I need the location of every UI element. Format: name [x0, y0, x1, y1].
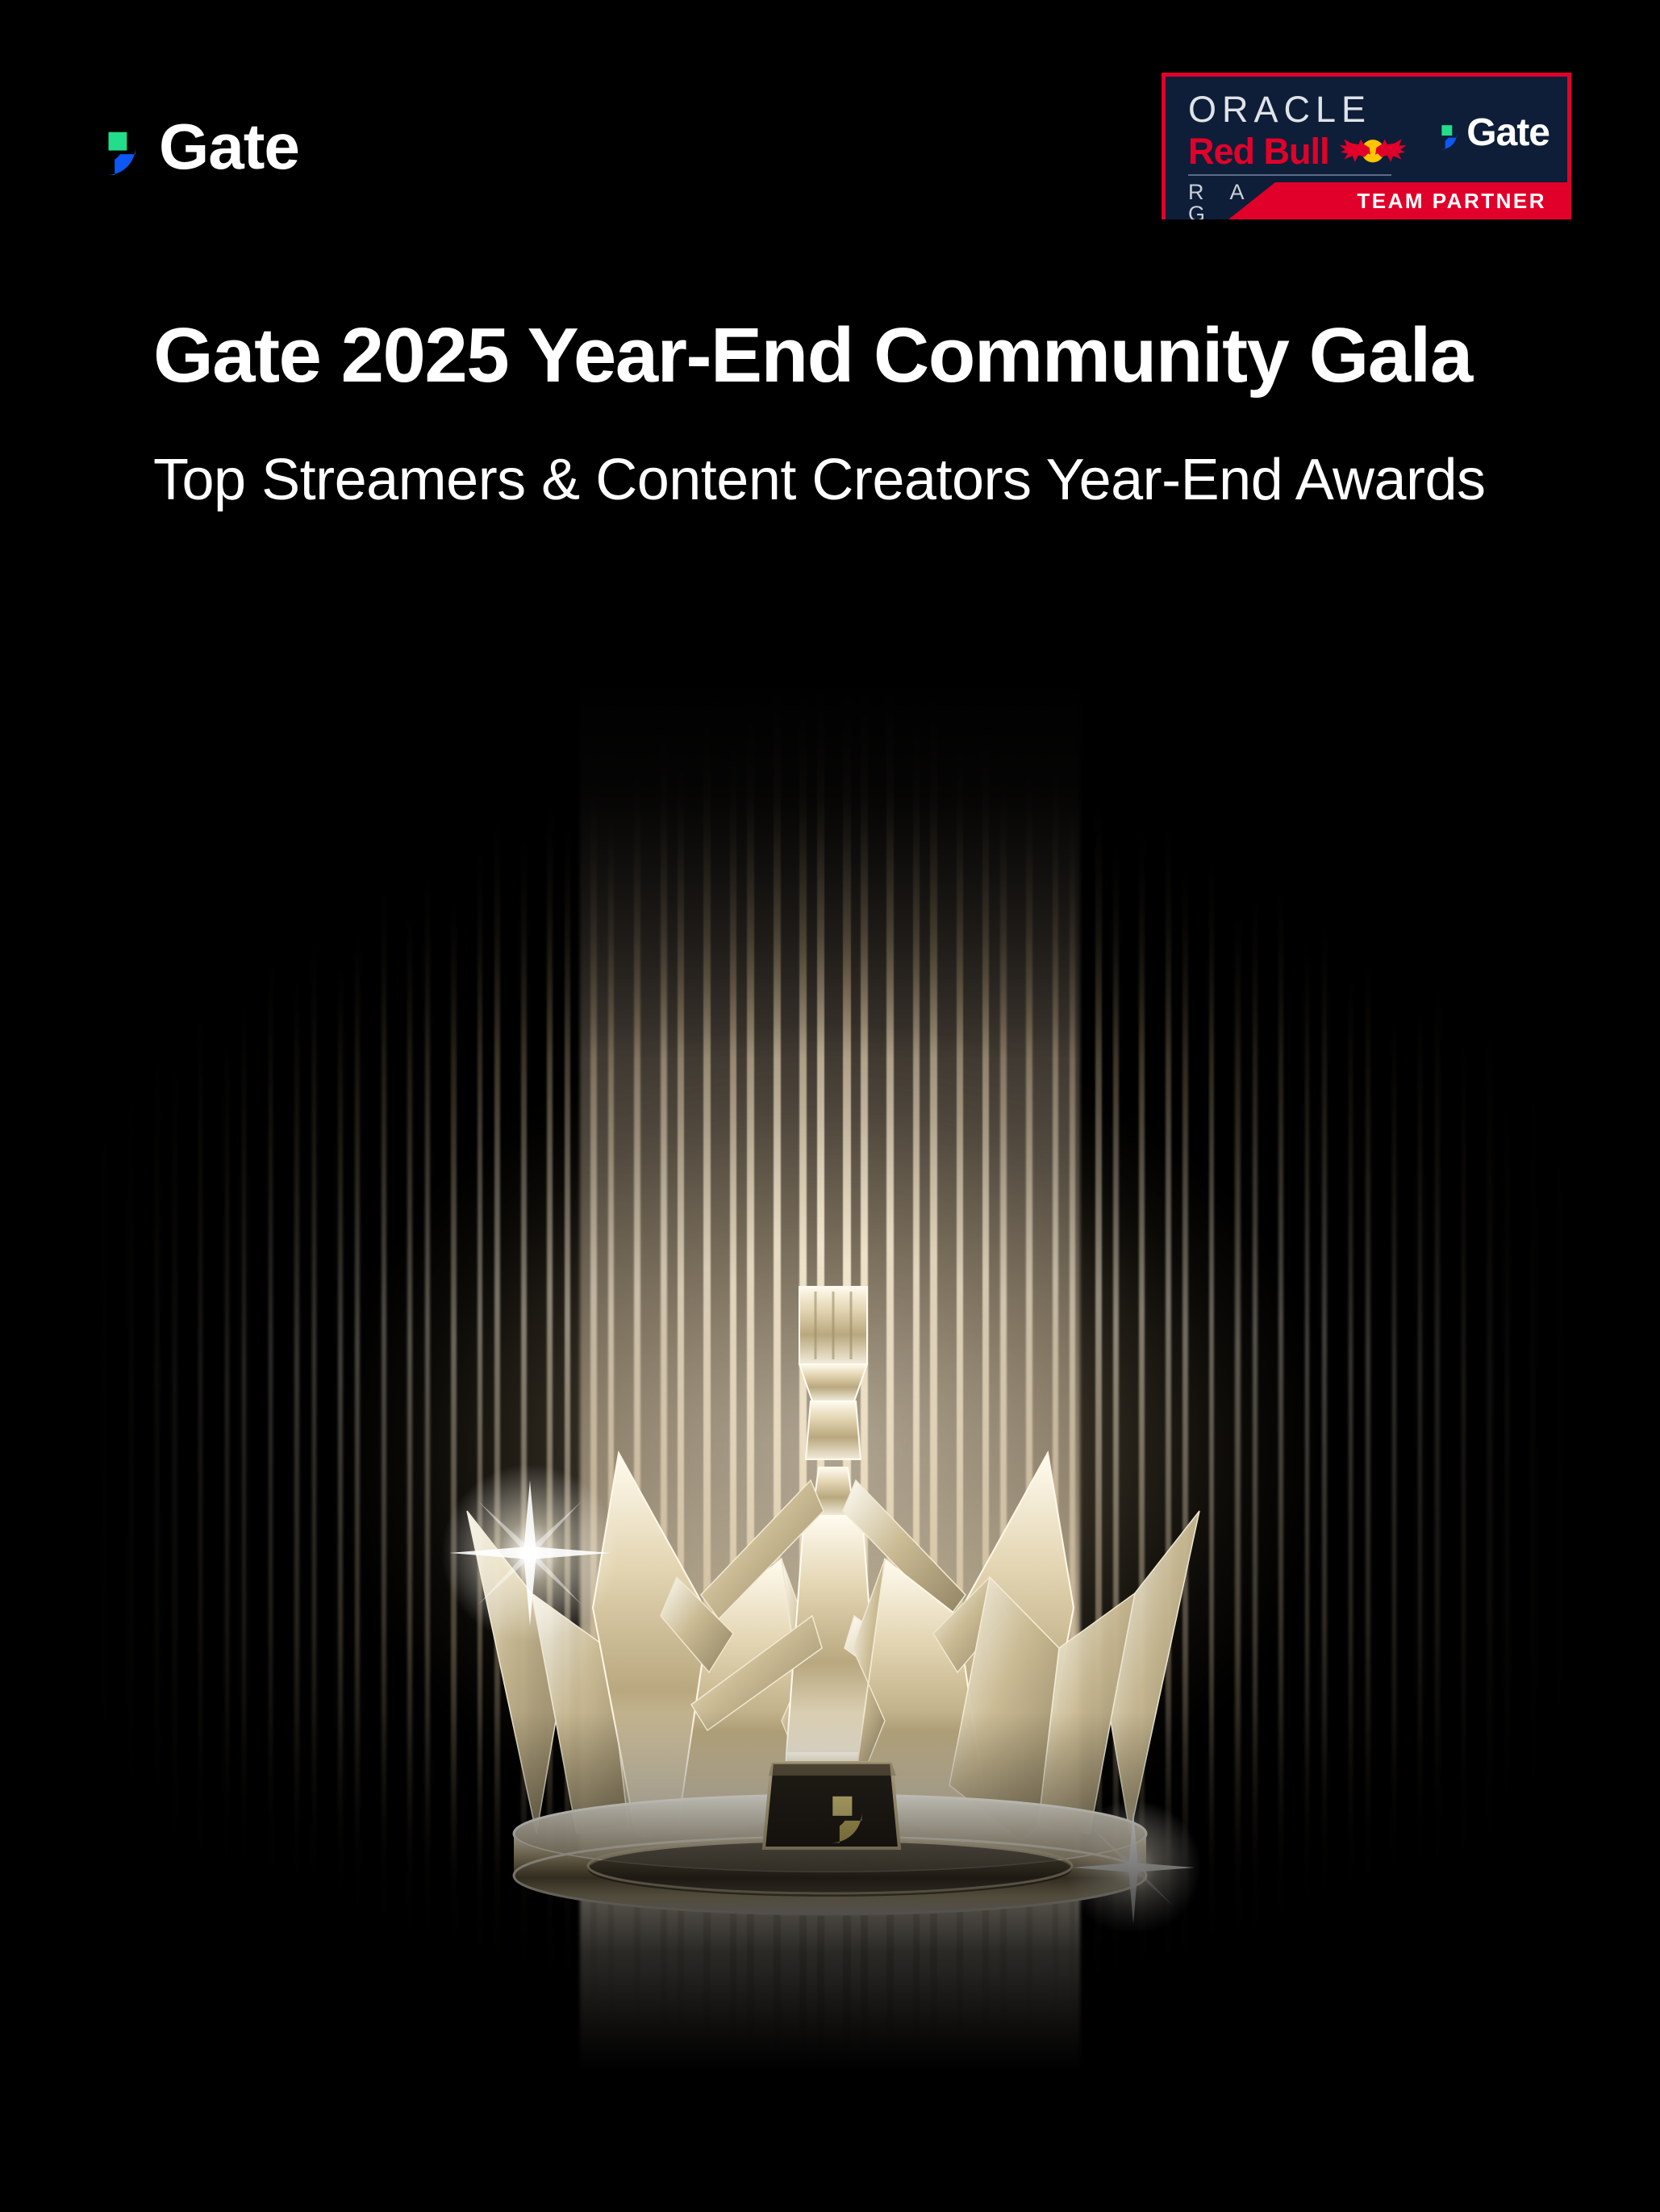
page-title: Gate 2025 Year-End Community Gala	[153, 311, 1507, 400]
badge-gate-wordmark: Gate	[1466, 114, 1549, 152]
oracle-wordmark: ORACLE	[1188, 91, 1391, 127]
gala-announcement-card[interactable]: Gate 2025 Year-End Community Gala Top St…	[95, 236, 1565, 2212]
badge-gate-logo: Gate	[1424, 114, 1549, 152]
team-partner-banner: TEAM PARTNER	[1228, 182, 1567, 219]
red-bull-charging-bulls-icon	[1336, 136, 1410, 168]
page-subtitle: Top Streamers & Content Creators Year-En…	[153, 445, 1507, 516]
crystal-crown-trophy-image	[95, 236, 1565, 2212]
page-header: Gate ORACLE Red Bull R A C I N G	[0, 0, 1660, 242]
team-partner-label: TEAM PARTNER	[1357, 190, 1546, 211]
partner-badge[interactable]: ORACLE Red Bull R A C I N G	[1162, 73, 1571, 219]
badge-divider	[1188, 174, 1391, 176]
gate-wordmark: Gate	[159, 115, 299, 179]
red-bull-wordmark: Red Bull	[1188, 133, 1329, 169]
gate-logo-icon	[1424, 116, 1458, 151]
gate-logo-icon	[77, 116, 138, 177]
hero-fade-bottom	[95, 1712, 1565, 2212]
gate-brand-logo[interactable]: Gate	[77, 115, 299, 179]
